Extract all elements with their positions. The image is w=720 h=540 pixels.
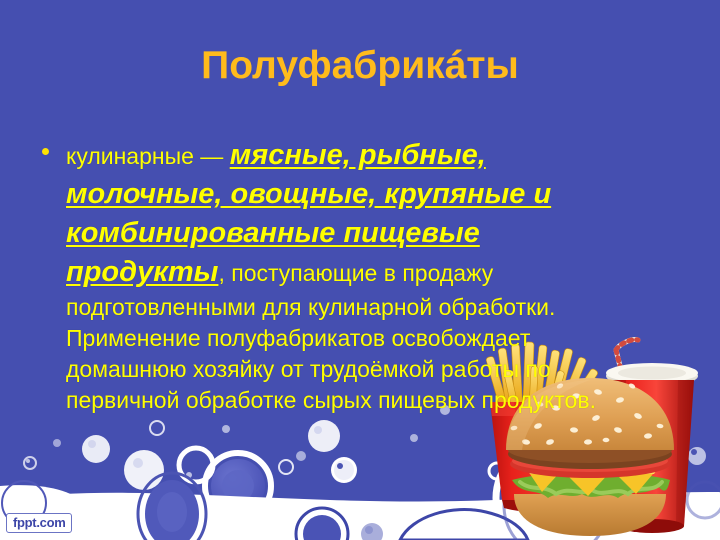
list-item: кулинарные — мясные, рыбные, молочные, о… <box>34 136 642 416</box>
fppt-watermark[interactable]: fppt.com <box>6 513 72 533</box>
body-paragraph: кулинарные — мясные, рыбные, молочные, о… <box>66 136 642 416</box>
presentation-slide: Полуфабрикáты кулинарные — мясные, рыбны… <box>0 0 720 540</box>
content-block: кулинарные — мясные, рыбные, молочные, о… <box>34 136 642 416</box>
body-lead-text: кулинарные — <box>66 143 230 169</box>
bullet-point-icon <box>42 148 49 155</box>
page-title: Полуфабрикáты <box>0 44 720 88</box>
